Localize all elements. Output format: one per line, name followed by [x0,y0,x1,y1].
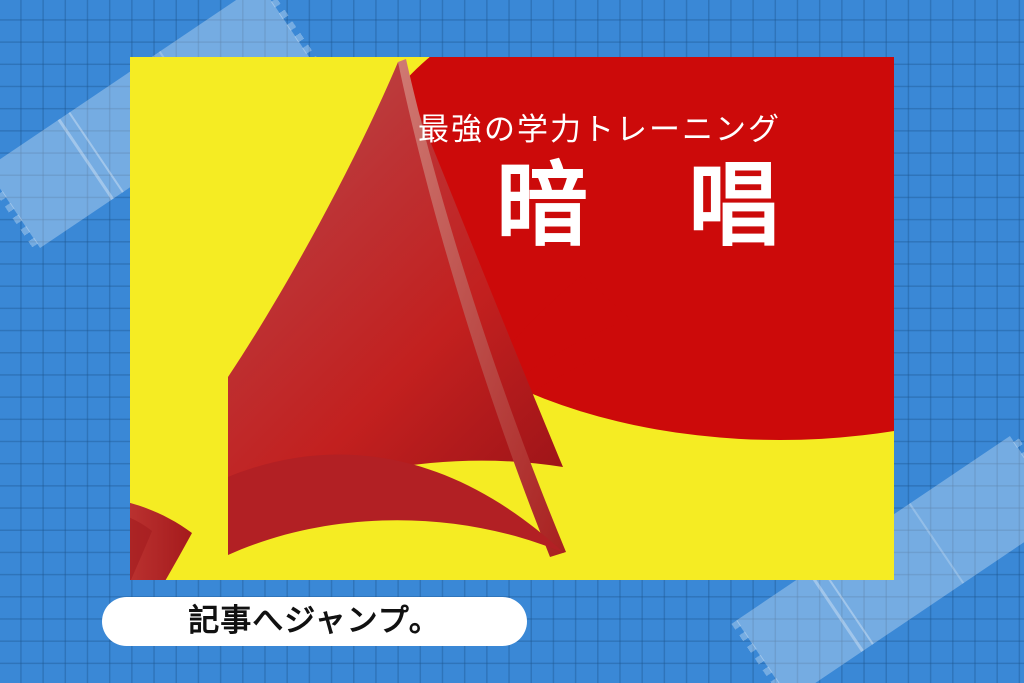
tape-torn-edge-left [0,168,41,255]
jump-to-article-label: 記事へジャンプ。 [188,606,441,637]
tape-sheen [68,112,123,193]
headline-title: 暗 唱 [496,160,784,252]
tape-torn-edge-right [259,0,324,64]
poster-canvas: 最強の学力トレーニング 暗 唱 記事へジャンプ。 [0,0,1024,683]
tape-sheen [807,571,863,652]
jump-to-article-button[interactable]: 記事へジャンプ。 [102,597,527,646]
tape-torn-edge-left [726,620,791,683]
headline-subtitle: 最強の学力トレーニング [418,113,781,147]
tape-sheen [57,119,113,200]
megaphone-lip [228,454,564,555]
tape-torn-edge-right [1009,429,1024,516]
tape-sheen [909,503,964,584]
